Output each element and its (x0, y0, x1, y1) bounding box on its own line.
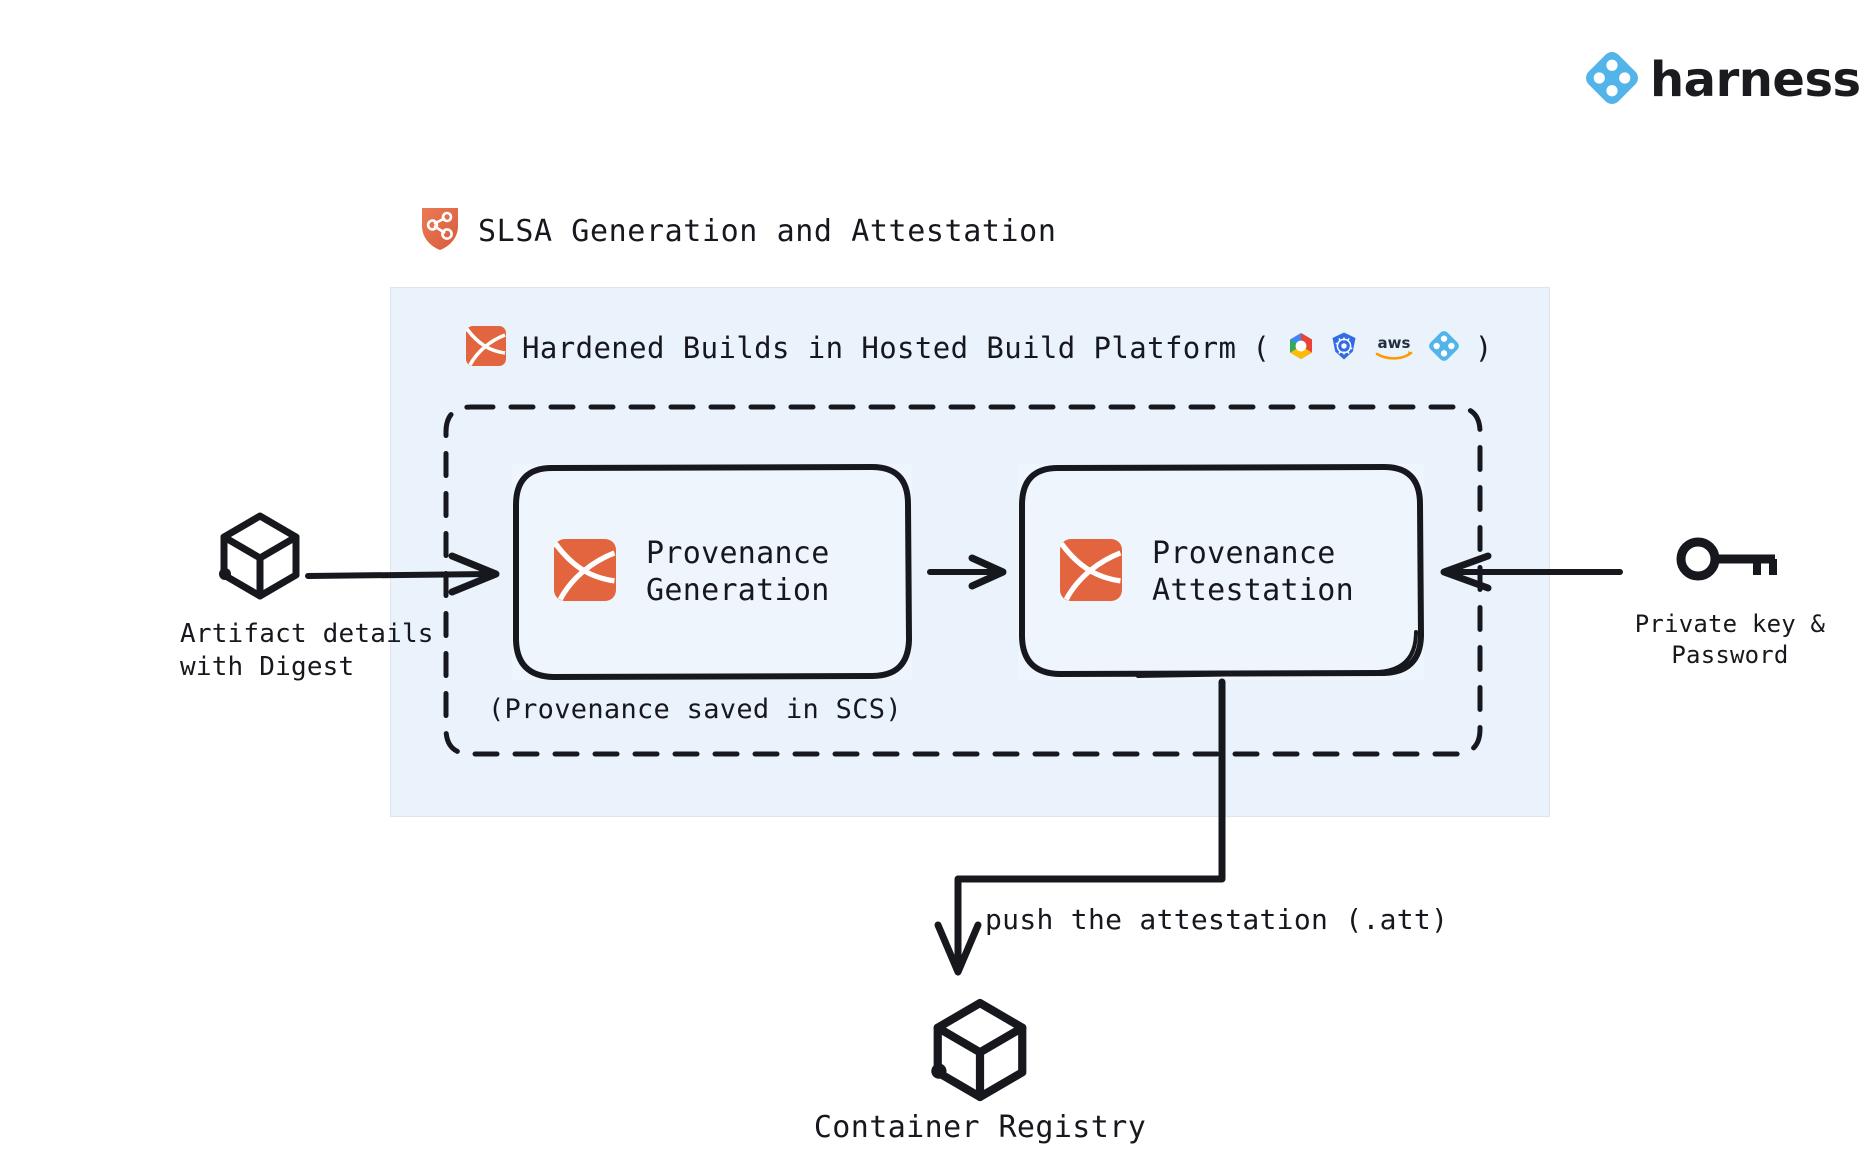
harness-wordmark: harness (1650, 56, 1861, 104)
artifact-caption: Artifact details with Digest (180, 618, 340, 685)
container-registry-node: Container Registry (890, 996, 1070, 1108)
container-registry-caption: Container Registry (814, 1110, 1146, 1145)
slsa-shield-icon (420, 206, 460, 256)
artifact-caption-line2: with Digest (180, 652, 354, 682)
box-label-line2: Attestation (1152, 573, 1354, 608)
private-key-caption: Private key & Password (1630, 609, 1830, 671)
platform-header-row: Hardened Builds in Hosted Build Platform… (466, 326, 1492, 370)
harness-logo-icon (466, 326, 506, 370)
slsa-title-label: SLSA Generation and Attestation (478, 214, 1057, 249)
cube-icon (928, 1089, 1032, 1108)
cube-icon (216, 587, 304, 606)
google-cloud-icon (1286, 331, 1316, 365)
box-label: ProvenanceAttestation (1152, 535, 1354, 609)
harness-diamond-logo-icon (1586, 52, 1638, 108)
aws-icon: aws (1372, 331, 1416, 365)
box-label: ProvenanceGeneration (646, 535, 830, 609)
box-label-line2: Generation (646, 573, 830, 608)
paren-close: ) (1475, 331, 1492, 365)
harness-brand-logo: harness (1586, 52, 1861, 108)
cloud-provider-icons: aws (1286, 331, 1459, 365)
box-label-line1: Provenance (646, 536, 830, 571)
artifact-caption-line1: Artifact details (180, 619, 434, 649)
private-key-caption-line2: Password (1671, 641, 1788, 669)
platform-header-label: Hardened Builds in Hosted Build Platform (522, 331, 1236, 365)
scs-caption: (Provenance saved in SCS) (488, 694, 902, 725)
svg-text:aws: aws (1377, 334, 1410, 352)
key-icon (1671, 574, 1789, 593)
box-label-line1: Provenance (1152, 536, 1336, 571)
private-key-caption-line1: Private key & (1635, 610, 1825, 638)
harness-logo-icon (1060, 539, 1122, 605)
paren-open: ( (1252, 331, 1269, 365)
diagram-canvas: harness SLSA Generat (0, 0, 1862, 1172)
harness-icon (1429, 331, 1459, 365)
private-key-node: Private key & Password (1630, 535, 1830, 671)
artifact-node: Artifact details with Digest (180, 510, 340, 685)
push-attestation-label: push the attestation (.att) (985, 903, 1448, 936)
provenance-attestation-box[interactable]: ProvenanceAttestation (1018, 464, 1424, 680)
slsa-section-title: SLSA Generation and Attestation (420, 206, 1057, 256)
provenance-generation-box[interactable]: ProvenanceGeneration (512, 464, 912, 680)
harness-logo-icon (554, 539, 616, 605)
kubernetes-icon (1329, 331, 1359, 365)
